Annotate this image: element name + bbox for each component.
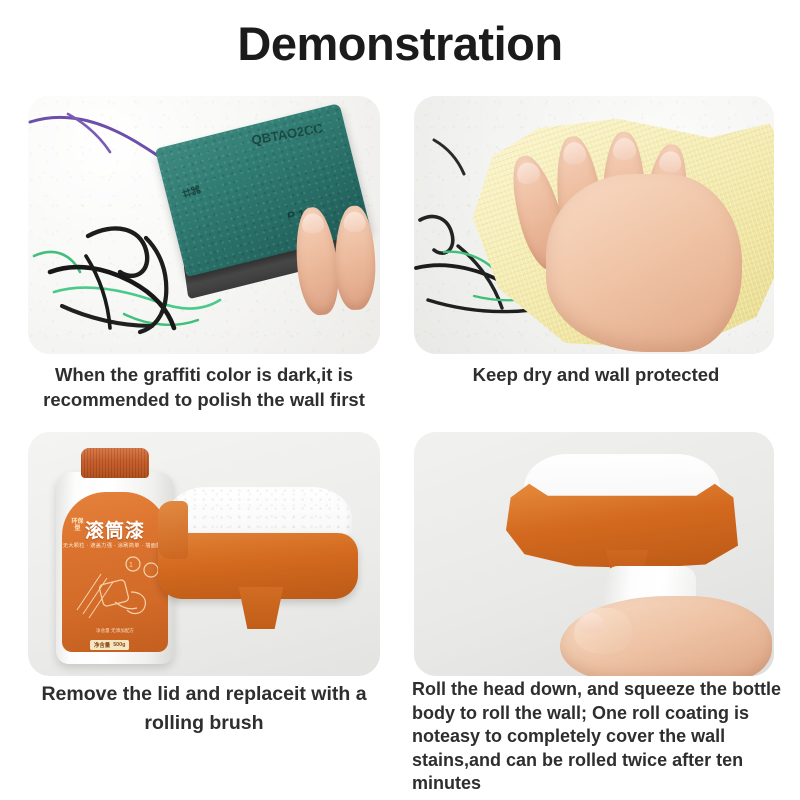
page-title: Demonstration: [0, 16, 800, 71]
label-product-name: 滚筒漆: [62, 516, 168, 543]
weight-badge-label: 净含量: [94, 641, 110, 649]
palm: [546, 174, 742, 352]
label-features: 无大颗粒 · 遮盖力强 · 涂刷简单 · 墙面翻新: [62, 542, 168, 549]
demo-step-2: [414, 96, 774, 354]
product-label: 环保型 滚筒漆 无大颗粒 · 遮盖力强 · 涂刷简单 · 墙面翻新: [62, 492, 168, 652]
photo-wiping-with-cloth: [414, 96, 774, 354]
hand: [510, 120, 750, 352]
svg-text:1: 1: [129, 562, 133, 569]
fingernail: [658, 150, 682, 174]
fingernail: [343, 212, 365, 232]
bottle-cap: [81, 448, 149, 478]
label-illustration: 1: [71, 552, 159, 626]
finger: [334, 205, 376, 310]
photo-bottle-and-roller: 环保型 滚筒漆 无大颗粒 · 遮盖力强 · 涂刷简单 · 墙面翻新: [28, 432, 380, 676]
roller-arm: [158, 501, 188, 559]
roller-brush-head: [158, 487, 358, 657]
demonstration-page: Demonstration Q: [0, 0, 800, 800]
caption-step-4: Roll the head down, and squeeze the bott…: [412, 678, 790, 796]
thumbnail: [580, 613, 604, 633]
demo-step-4: [414, 432, 774, 676]
photo-sanding-graffiti-wall: QBTAO2CC ⌗⌘ P 120: [28, 96, 380, 354]
caption-step-3: Remove the lid and replaceit with a roll…: [18, 680, 390, 738]
caption-step-1: When the graffiti color is dark,it is re…: [18, 362, 390, 412]
fingernail: [562, 141, 588, 166]
demo-step-1: QBTAO2CC ⌗⌘ P 120: [28, 96, 380, 354]
weight-badge-value: 500g: [113, 642, 125, 648]
caption-step-2: Keep dry and wall protected: [410, 362, 782, 387]
hand: [560, 580, 772, 676]
fingernail: [613, 138, 636, 160]
demo-step-3: 环保型 滚筒漆 无大颗粒 · 遮盖力强 · 涂刷简单 · 墙面翻新: [28, 432, 380, 676]
thumb: [574, 608, 632, 654]
sandpaper-print-text: QBTAO2CC: [250, 120, 323, 147]
fingernail: [301, 212, 325, 234]
fingernail: [514, 160, 542, 187]
photo-rolling-the-wall: [414, 432, 774, 676]
paint-bottle: 环保型 滚筒漆 无大颗粒 · 遮盖力强 · 涂刷简单 · 墙面翻新: [56, 446, 174, 664]
weight-badge: 净含量 500g: [90, 640, 129, 650]
sandpaper-print-marks: ⌗⌘: [180, 181, 203, 203]
label-footer: 净含量 无添加配方: [62, 628, 168, 634]
